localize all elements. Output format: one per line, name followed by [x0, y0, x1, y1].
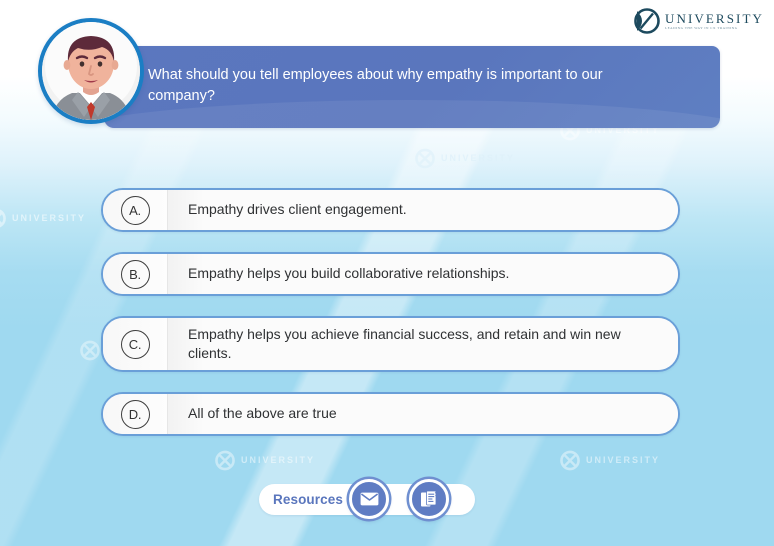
resources-bar: Resources	[259, 484, 475, 515]
avatar	[38, 18, 144, 124]
logo-tagline: LEADING THE WAY IN CX TRAINING	[665, 27, 764, 30]
answer-option-b[interactable]: B. Empathy helps you build collaborative…	[101, 252, 680, 296]
watermark-mark-icon: ⨂	[80, 340, 102, 360]
option-text-cell: All of the above are true	[168, 394, 678, 434]
answer-options: A. Empathy drives client engagement. B. …	[101, 188, 680, 456]
answer-option-d[interactable]: D. All of the above are true	[101, 392, 680, 436]
question-text: What should you tell employees about why…	[148, 65, 663, 106]
option-text: All of the above are true	[188, 404, 337, 423]
option-letter: C.	[121, 330, 150, 359]
watermark-label: UNIVERSITY	[12, 213, 86, 223]
question-banner: What should you tell employees about why…	[104, 46, 720, 128]
option-letter: B.	[121, 260, 150, 289]
logo-word: UNIVERSITY	[665, 12, 764, 25]
logo-text: UNIVERSITY LEADING THE WAY IN CX TRAININ…	[665, 12, 764, 30]
quiz-screen: ⨂ UNIVERSITY ⨂ UNIVERSITY ⨂ UNIVERSITY ⨂…	[0, 0, 774, 546]
option-letter: A.	[121, 196, 150, 225]
resources-notes-button[interactable]	[409, 479, 449, 519]
option-letter-cell: D.	[103, 394, 168, 434]
resources-label: Resources	[273, 492, 343, 507]
option-text-cell: Empathy helps you achieve financial succ…	[168, 318, 678, 370]
option-letter: D.	[121, 400, 150, 429]
envelope-icon	[360, 492, 379, 506]
watermark-mark-icon: ⨂	[415, 148, 437, 168]
option-text-cell: Empathy drives client engagement.	[168, 190, 678, 230]
watermark-label: UNIVERSITY	[441, 153, 515, 163]
watermark-mark-icon: ⨂	[0, 208, 8, 228]
option-letter-cell: A.	[103, 190, 168, 230]
answer-option-c[interactable]: C. Empathy helps you achieve financial s…	[101, 316, 680, 372]
background-watermark: ⨂ UNIVERSITY	[415, 148, 515, 168]
option-text: Empathy drives client engagement.	[188, 200, 407, 219]
watermark-label: UNIVERSITY	[586, 455, 660, 465]
option-text: Empathy helps you achieve financial succ…	[188, 325, 660, 364]
option-text-cell: Empathy helps you build collaborative re…	[168, 254, 678, 294]
option-text: Empathy helps you build collaborative re…	[188, 264, 509, 283]
resources-mail-button[interactable]	[349, 479, 389, 519]
background-watermark: ⨂ UNIVERSITY	[0, 208, 86, 228]
xc-monogram-icon	[632, 6, 662, 36]
answer-option-a[interactable]: A. Empathy drives client engagement.	[101, 188, 680, 232]
option-letter-cell: C.	[103, 318, 168, 370]
watermark-label: UNIVERSITY	[241, 455, 315, 465]
option-letter-cell: B.	[103, 254, 168, 294]
brand-logo: UNIVERSITY LEADING THE WAY IN CX TRAININ…	[632, 6, 764, 36]
document-notes-icon	[420, 490, 439, 509]
